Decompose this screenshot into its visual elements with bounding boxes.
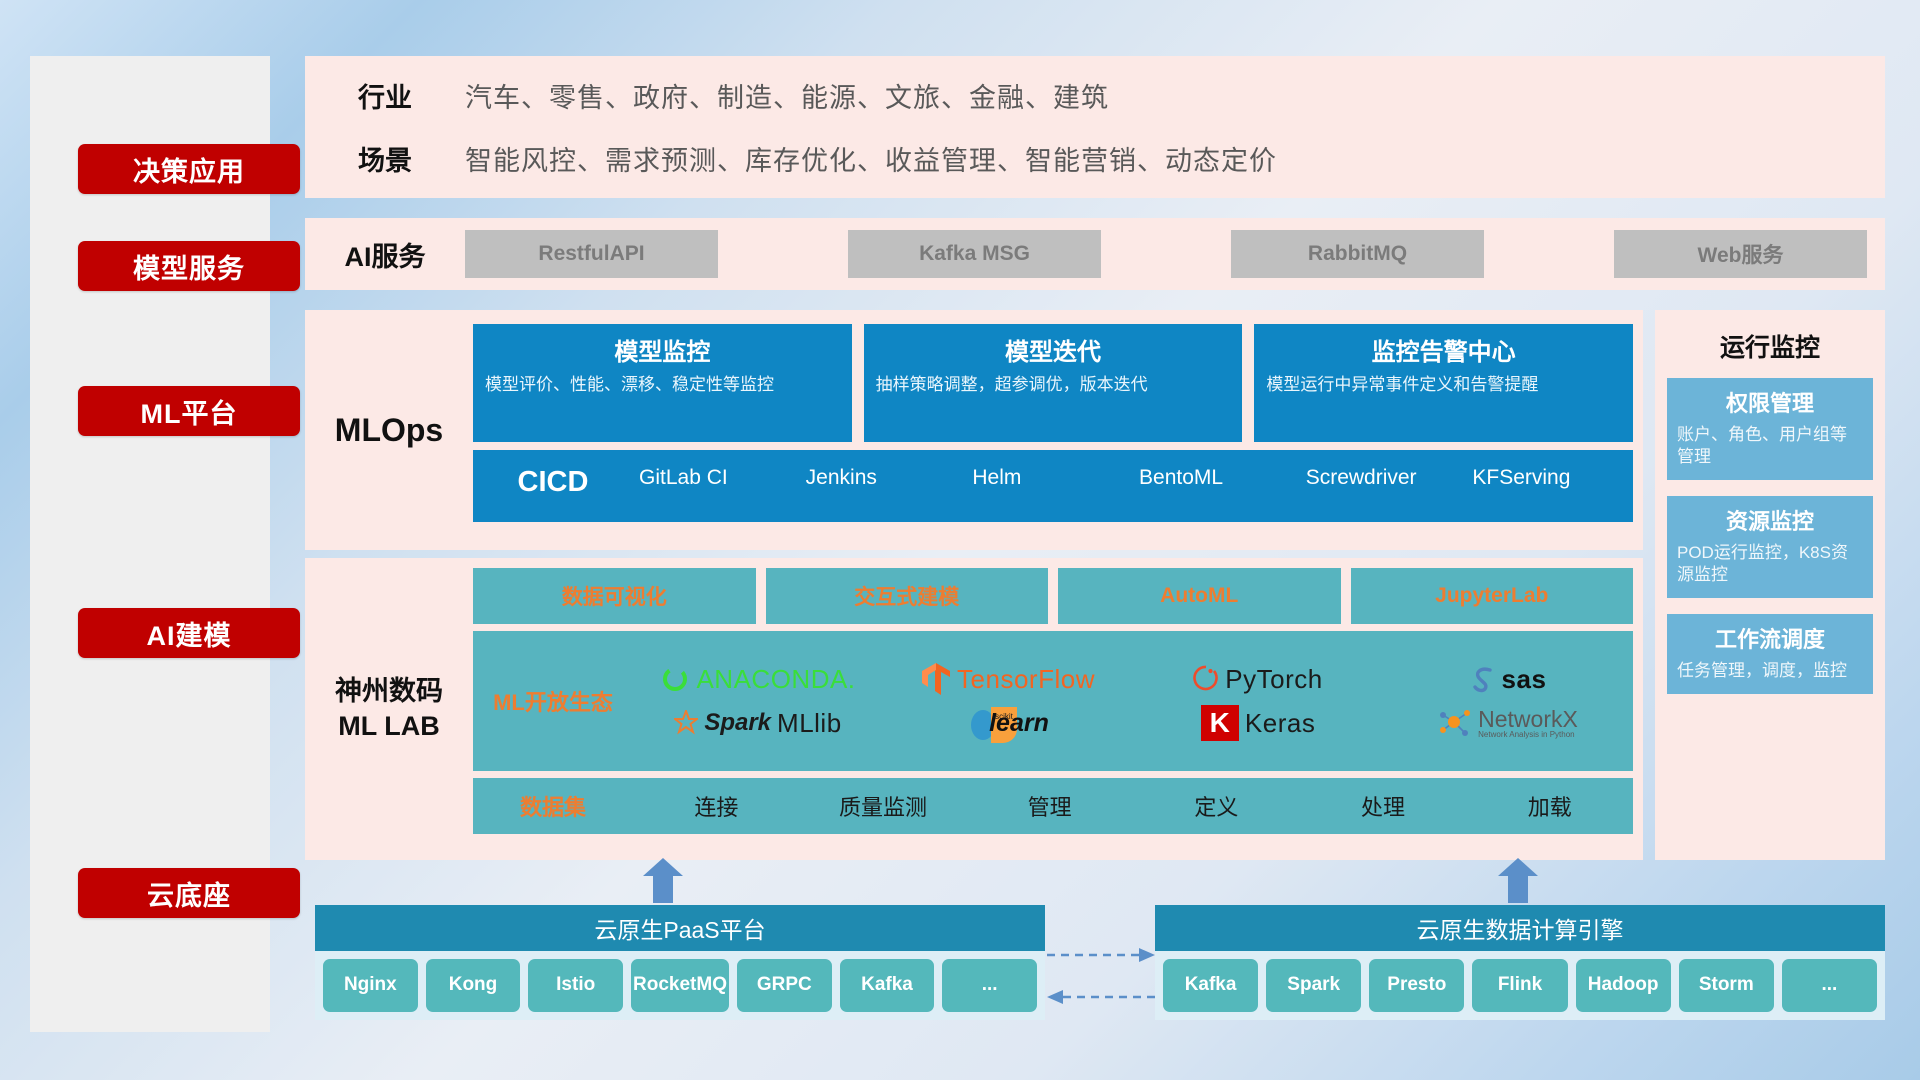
mlops-card-model-iteration[interactable]: 模型迭代 抽样策略调整，超参调优，版本迭代 (864, 324, 1243, 442)
paas-chip-nginx[interactable]: Nginx (323, 959, 418, 1012)
tab-interactive-modeling[interactable]: 交互式建模 (766, 568, 1049, 624)
engine-chip-spark[interactable]: Spark (1266, 959, 1361, 1012)
scenario-values: 智能风控、需求预测、库存优化、收益管理、智能营销、动态定价 (465, 139, 1277, 178)
spark-wordmark: Spark (704, 709, 771, 737)
card-title: 权限管理 (1677, 386, 1863, 418)
ai-service-label: AI服务 (305, 235, 465, 274)
up-arrow-paas-icon (640, 857, 686, 903)
ml-lab-label-line1: 神州数码 (335, 676, 443, 706)
scenario-row: 场景 智能风控、需求预测、库存优化、收益管理、智能营销、动态定价 (305, 127, 1885, 190)
spark-star-icon (674, 710, 698, 736)
paas-chip-kafka[interactable]: Kafka (840, 959, 935, 1012)
sas-wordmark: sas (1502, 664, 1547, 695)
mlops-content: 模型监控 模型评价、性能、漂移、稳定性等监控 模型迭代 抽样策略调整，超参调优，… (473, 310, 1643, 550)
engine-chip-kafka[interactable]: Kafka (1163, 959, 1258, 1012)
keras-logo: K Keras (1133, 705, 1383, 741)
dataset-item-connect[interactable]: 连接 (633, 790, 800, 822)
ml-open-ecosystem: ML开放生态 ANACONDA. TensorF (473, 631, 1633, 771)
tensorflow-icon (921, 662, 951, 696)
pytorch-icon (1193, 664, 1219, 694)
ml-lab-label: 神州数码 ML LAB (305, 558, 473, 860)
ml-open-ecosystem-label: ML开放生态 (473, 685, 633, 717)
ecosystem-logo-grid: ANACONDA. TensorFlow (633, 657, 1633, 745)
rail-chip-decision-app[interactable]: 决策应用 (78, 144, 300, 194)
cicd-item-gitlab-ci[interactable]: GitLab CI (633, 466, 800, 490)
networkx-logo: NetworkX Network Analysis in Python (1383, 708, 1633, 739)
scenario-label: 场景 (305, 139, 465, 178)
left-rail: 决策应用 模型服务 ML平台 AI建模 云底座 (30, 56, 270, 1032)
cloud-native-data-engine-group: 云原生数据计算引擎 Kafka Spark Presto Flink Hadoo… (1155, 905, 1885, 1020)
tensorflow-logo: TensorFlow (883, 662, 1133, 696)
cicd-item-kfserving[interactable]: KFServing (1466, 466, 1633, 490)
ai-service-chip-rabbitmq[interactable]: RabbitMQ (1231, 230, 1484, 278)
networkx-icon (1438, 708, 1472, 738)
dataset-row: 数据集 连接 质量监测 管理 定义 处理 加载 (473, 778, 1633, 834)
card-title: 模型迭代 (876, 332, 1231, 367)
dataset-label: 数据集 (473, 790, 633, 822)
industry-row: 行业 汽车、零售、政府、制造、能源、文旅、金融、建筑 (305, 64, 1885, 127)
cicd-title: CICD (473, 466, 633, 499)
ai-service-chip-restfulapi[interactable]: RestfulAPI (465, 230, 718, 278)
engine-chip-storm[interactable]: Storm (1679, 959, 1774, 1012)
dataset-item-process[interactable]: 处理 (1300, 790, 1467, 822)
paas-chip-more[interactable]: ... (942, 959, 1037, 1012)
card-desc: POD运行监控，K8S资源监控 (1677, 542, 1863, 586)
ml-lab-content: 数据可视化 交互式建模 AutoML JupyterLab ML开放生态 ANA… (473, 558, 1643, 860)
scikit-learn-logo: scikit learn (883, 701, 1133, 745)
cicd-item-screwdriver[interactable]: Screwdriver (1300, 466, 1467, 490)
rail-chip-ai-modeling[interactable]: AI建模 (78, 608, 300, 658)
networkx-tagline: Network Analysis in Python (1478, 731, 1578, 739)
engine-chip-hadoop[interactable]: Hadoop (1576, 959, 1671, 1012)
paas-chip-kong[interactable]: Kong (426, 959, 521, 1012)
industry-scenario-band: 行业 汽车、零售、政府、制造、能源、文旅、金融、建筑 场景 智能风控、需求预测、… (305, 56, 1885, 198)
mlops-card-alert-center[interactable]: 监控告警中心 模型运行中异常事件定义和告警提醒 (1254, 324, 1633, 442)
ai-service-chip-web[interactable]: Web服务 (1614, 230, 1867, 278)
tensorflow-wordmark: TensorFlow (957, 664, 1095, 695)
rail-chip-ml-platform[interactable]: ML平台 (78, 386, 300, 436)
mlops-band: MLOps 模型监控 模型评价、性能、漂移、稳定性等监控 模型迭代 抽样策略调整… (305, 310, 1643, 550)
rail-chip-model-service[interactable]: 模型服务 (78, 241, 300, 291)
engine-chip-more[interactable]: ... (1782, 959, 1877, 1012)
ai-service-chip-kafka-msg[interactable]: Kafka MSG (848, 230, 1101, 278)
anaconda-icon (660, 664, 690, 694)
paas-chip-grpc[interactable]: GRPC (737, 959, 832, 1012)
cloud-native-paas-chips: Nginx Kong Istio RocketMQ GRPC Kafka ... (315, 951, 1045, 1020)
bidirectional-dashed-connector (1045, 940, 1157, 1012)
card-desc: 账户、角色、用户组等管理 (1677, 424, 1863, 468)
dataset-item-manage[interactable]: 管理 (966, 790, 1133, 822)
cicd-item-bentoml[interactable]: BentoML (1133, 466, 1300, 490)
sas-icon (1470, 664, 1496, 694)
ml-lab-tabs: 数据可视化 交互式建模 AutoML JupyterLab (473, 568, 1633, 624)
industry-values: 汽车、零售、政府、制造、能源、文旅、金融、建筑 (465, 76, 1109, 115)
tab-automl[interactable]: AutoML (1058, 568, 1341, 624)
dataset-item-define[interactable]: 定义 (1133, 790, 1300, 822)
pytorch-wordmark: PyTorch (1225, 664, 1322, 695)
card-desc: 模型运行中异常事件定义和告警提醒 (1266, 374, 1621, 397)
monitor-card-permission[interactable]: 权限管理 账户、角色、用户组等管理 (1667, 378, 1873, 480)
scikit-learn-wordmark: learn (989, 709, 1049, 738)
cloud-native-paas-title: 云原生PaaS平台 (315, 905, 1045, 951)
engine-chip-flink[interactable]: Flink (1472, 959, 1567, 1012)
tab-jupyterlab[interactable]: JupyterLab (1351, 568, 1634, 624)
monitor-card-workflow[interactable]: 工作流调度 任务管理，调度，监控 (1667, 614, 1873, 694)
paas-chip-istio[interactable]: Istio (528, 959, 623, 1012)
mlops-card-list: 模型监控 模型评价、性能、漂移、稳定性等监控 模型迭代 抽样策略调整，超参调优，… (473, 324, 1633, 442)
ml-lab-label-line2: ML LAB (338, 711, 440, 741)
tab-data-visualization[interactable]: 数据可视化 (473, 568, 756, 624)
ai-service-band: AI服务 RestfulAPI Kafka MSG RabbitMQ Web服务 (305, 218, 1885, 290)
monitor-card-resource[interactable]: 资源监控 POD运行监控，K8S资源监控 (1667, 496, 1873, 598)
cicd-item-jenkins[interactable]: Jenkins (800, 466, 967, 490)
card-title: 资源监控 (1677, 504, 1863, 536)
mlops-card-model-monitoring[interactable]: 模型监控 模型评价、性能、漂移、稳定性等监控 (473, 324, 852, 442)
keras-k-icon: K (1201, 705, 1239, 741)
architecture-diagram: 决策应用 模型服务 ML平台 AI建模 云底座 行业 汽车、零售、政府、制造、能… (0, 0, 1920, 1080)
up-arrow-data-engine-icon (1495, 857, 1541, 903)
cloud-native-paas-group: 云原生PaaS平台 Nginx Kong Istio RocketMQ GRPC… (315, 905, 1045, 1020)
pytorch-logo: PyTorch (1133, 664, 1383, 695)
dataset-item-load[interactable]: 加载 (1466, 790, 1633, 822)
cicd-item-helm[interactable]: Helm (966, 466, 1133, 490)
ai-service-items: RestfulAPI Kafka MSG RabbitMQ Web服务 (465, 230, 1885, 278)
runtime-monitor-title: 运行监控 (1667, 328, 1873, 364)
card-desc: 抽样策略调整，超参调优，版本迭代 (876, 374, 1231, 397)
spark-mllib-logo: Spark MLlib (633, 708, 883, 739)
cloud-native-data-engine-title: 云原生数据计算引擎 (1155, 905, 1885, 951)
cicd-bar: CICD GitLab CI Jenkins Helm BentoML Scre… (473, 450, 1633, 522)
card-title: 模型监控 (485, 332, 840, 367)
industry-label: 行业 (305, 76, 465, 115)
card-desc: 任务管理，调度，监控 (1677, 660, 1863, 682)
card-title: 工作流调度 (1677, 622, 1863, 654)
paas-chip-rocketmq[interactable]: RocketMQ (631, 959, 729, 1012)
sas-logo: sas (1383, 664, 1633, 695)
anaconda-logo: ANACONDA. (633, 664, 883, 695)
mllib-wordmark: MLlib (777, 708, 842, 739)
keras-wordmark: Keras (1245, 708, 1315, 739)
cloud-native-data-engine-chips: Kafka Spark Presto Flink Hadoop Storm ..… (1155, 951, 1885, 1020)
dataset-item-quality[interactable]: 质量监测 (800, 790, 967, 822)
networkx-wordmark: NetworkX (1478, 708, 1578, 731)
rail-chip-cloud-base[interactable]: 云底座 (78, 868, 300, 918)
card-title: 监控告警中心 (1266, 332, 1621, 367)
anaconda-wordmark: ANACONDA. (696, 664, 855, 695)
mlops-label: MLOps (305, 310, 473, 550)
runtime-monitor-panel: 运行监控 权限管理 账户、角色、用户组等管理 资源监控 POD运行监控，K8S资… (1655, 310, 1885, 860)
ml-lab-band: 神州数码 ML LAB 数据可视化 交互式建模 AutoML JupyterLa… (305, 558, 1643, 860)
engine-chip-presto[interactable]: Presto (1369, 959, 1464, 1012)
card-desc: 模型评价、性能、漂移、稳定性等监控 (485, 374, 840, 397)
